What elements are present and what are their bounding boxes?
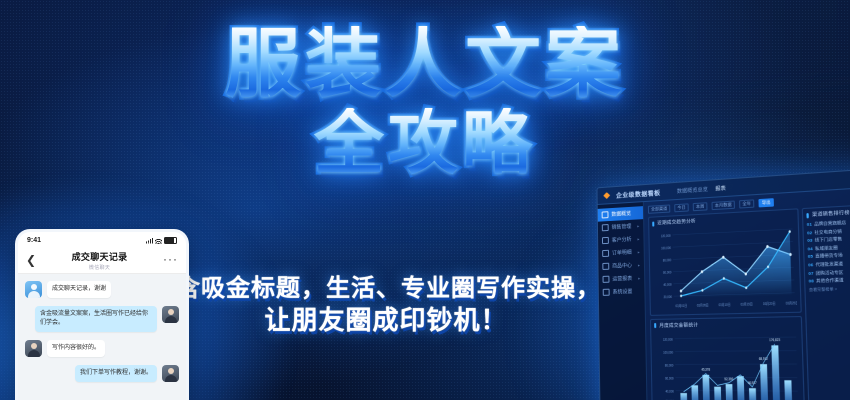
subtitle-line1: 含吸金标题，生活、专业圈写作实操， — [176, 272, 596, 304]
chat-bubble: 写作内容很好的。 — [47, 340, 105, 357]
subtitle-group: 含吸金标题，生活、专业圈写作实操， 让朋友圈成印钞机！ — [176, 272, 596, 339]
line-chart-title: 近期成交趋势分析 — [657, 218, 696, 226]
chat-subtitle: 微信聊天 — [36, 264, 163, 271]
headline-line2-stroke: 全攻略 — [0, 108, 850, 178]
headline-group: 服装人文案 服装人文案 全攻略 全攻略 — [0, 26, 850, 178]
svg-text:100,000: 100,000 — [663, 349, 673, 354]
export-button[interactable]: 导出 — [758, 198, 774, 207]
signal-bars-icon — [146, 238, 153, 244]
subtitle-line2: 让朋友圈成印钞机！ — [176, 304, 596, 339]
sidebar-item-label: 商品中心 — [612, 262, 632, 270]
chevron-right-icon: ▸ — [638, 249, 640, 254]
chart-icon — [602, 224, 609, 231]
filter-chip-week[interactable]: 本周 — [693, 202, 708, 211]
filter-chip-channel[interactable]: 全部渠道 — [648, 204, 670, 213]
dashboard-title: 企业级数据看板 — [616, 187, 661, 199]
chat-message: 含金吸流量文案案，生活圈写作已经给你们学会。 — [25, 306, 179, 332]
ranking-more-link[interactable]: 查看完整榜单 > — [809, 285, 850, 292]
avatar — [25, 281, 42, 298]
dashboard-main: 全部渠道 今日 本周 本月数据 全年 导出 — [644, 187, 850, 400]
sidebar-item-label: 运营报表 — [612, 275, 632, 283]
chat-bubble: 含金吸流量文案案，生活圈写作已经给你们学会。 — [35, 306, 157, 332]
svg-text:03月05日: 03月05日 — [697, 303, 709, 308]
panel-accent-bar — [654, 323, 656, 328]
phone-status-bar: 9:41 — [18, 232, 186, 247]
svg-text:120,000: 120,000 — [661, 233, 671, 238]
box-icon — [602, 263, 609, 270]
headline-line1: 服装人文案 — [0, 26, 850, 102]
svg-text:03月20日: 03月20日 — [763, 301, 776, 306]
sidebar-item-label: 系统设置 — [613, 288, 633, 296]
chat-title: 成交聊天记录 — [36, 250, 163, 263]
sidebar-item-label: 数据概览 — [611, 210, 631, 218]
filter-chip-year[interactable]: 全年 — [739, 199, 754, 208]
charts-container: 近期成交趋势分析 — [648, 204, 850, 400]
svg-text:20,000: 20,000 — [663, 294, 672, 299]
battery-icon — [164, 237, 177, 244]
chat-message: 我们下单写作教程，谢谢。 — [25, 365, 179, 382]
panel-header: 月度成交金额统计 — [654, 320, 798, 329]
light-streak-top — [323, 0, 850, 164]
phone-nav-bar: ❮ 成交聊天记录 微信聊天 ··· — [18, 247, 186, 274]
nav-title-group: 成交聊天记录 微信聊天 — [36, 250, 163, 271]
chat-message: 成交聊天记录，谢谢 — [25, 281, 179, 298]
ranking-panel: 渠道销售排行榜 01 品牌自营旗舰店 02 社交电商分销 — [802, 204, 850, 400]
bar-chart-panel: 月度成交金额统计 — [650, 316, 805, 400]
chat-bubble: 我们下单写作教程，谢谢。 — [75, 365, 157, 382]
bar-chart-title: 月度成交金额统计 — [659, 322, 698, 329]
svg-text:46,917: 46,917 — [748, 380, 757, 385]
svg-text:80,000: 80,000 — [663, 258, 672, 263]
rank-number: 04 — [807, 245, 812, 253]
svg-text:03月10日: 03月10日 — [718, 302, 730, 307]
chevron-left-icon[interactable]: ❮ — [26, 254, 36, 266]
grid-icon — [602, 211, 609, 218]
avatar — [162, 365, 179, 382]
bar-chart-area: 120,000 100,000 80,000 60,000 40,000 20,… — [654, 329, 800, 400]
svg-text:03月01日: 03月01日 — [675, 303, 687, 308]
svg-text:45,378: 45,378 — [701, 367, 710, 372]
svg-text:176,823: 176,823 — [769, 337, 780, 342]
more-horizontal-icon[interactable]: ··· — [163, 256, 178, 263]
dashboard-tab-group: 数据概览总览 报表 — [677, 184, 726, 194]
panel-accent-bar — [652, 221, 654, 226]
sidebar-item-label: 订单明细 — [612, 249, 632, 257]
chat-message: 写作内容很好的。 — [25, 340, 179, 357]
ranking-row[interactable]: 08 其他合作渠道 — [809, 275, 850, 285]
svg-text:03月15日: 03月15日 — [740, 302, 752, 307]
report-icon — [603, 276, 610, 283]
rank-number: 08 — [809, 277, 814, 285]
filter-chip-month[interactable]: 本月数据 — [711, 201, 734, 211]
chevron-right-icon: ▸ — [637, 223, 639, 228]
bar-chart-svg: 120,000 100,000 80,000 60,000 40,000 20,… — [654, 329, 800, 400]
dashboard-sidebar: 数据概览 销售管理 ▸ 客户分析 ▸ 订单明细 — [598, 202, 648, 400]
headline-line1-stroke: 服装人文案 — [0, 26, 850, 102]
gear-icon — [603, 289, 610, 296]
ranking-list: 01 品牌自营旗舰店 02 社交电商分销 03 线下门店零售 — [807, 217, 850, 285]
charts-left-column: 近期成交趋势分析 — [648, 208, 805, 400]
tab-report[interactable]: 报表 — [715, 184, 726, 192]
svg-text:120,000: 120,000 — [663, 337, 673, 342]
avatar — [162, 306, 179, 323]
sidebar-item-settings[interactable]: 系统设置 — [599, 285, 645, 299]
rank-number: 05 — [808, 253, 813, 261]
svg-text:100,000: 100,000 — [661, 245, 671, 250]
svg-text:40,000: 40,000 — [663, 282, 672, 287]
ranking-title: 渠道销售排行榜 — [812, 210, 850, 218]
status-icon-group — [146, 237, 177, 244]
svg-text:68,912: 68,912 — [759, 356, 768, 361]
panel-accent-bar — [806, 212, 808, 217]
svg-text:03月25日: 03月25日 — [786, 301, 798, 306]
dashboard-mockup: 企业级数据看板 数据概览总览 报表 数据概览 销售管理 ▸ — [596, 168, 850, 400]
line-chart-svg: 120,000 100,000 80,000 60,000 40,000 20,… — [652, 221, 797, 311]
rank-number: 07 — [808, 269, 813, 277]
wifi-icon — [155, 238, 162, 244]
avatar — [25, 340, 42, 357]
dashboard-window: 企业级数据看板 数据概览总览 报表 数据概览 销售管理 ▸ — [596, 168, 850, 400]
phone-mockup: 9:41 ❮ 成交聊天记录 微信聊天 ··· 成交聊天记录，谢谢 含金吸流量文案… — [18, 232, 186, 400]
users-icon — [602, 237, 609, 244]
chevron-right-icon: ▸ — [638, 276, 640, 281]
chat-message-list[interactable]: 成交聊天记录，谢谢 含金吸流量文案案，生活圈写作已经给你们学会。 写作内容很好的… — [18, 274, 186, 400]
svg-text:60,000: 60,000 — [665, 375, 674, 380]
svg-text:60,000: 60,000 — [663, 270, 672, 275]
panel-header: 渠道销售排行榜 — [806, 208, 850, 218]
diamond-logo-icon — [603, 192, 610, 199]
filter-chip-today[interactable]: 今日 — [674, 203, 689, 212]
list-icon — [602, 250, 609, 257]
rank-number: 02 — [807, 228, 812, 236]
rank-label: 其他合作渠道 — [816, 276, 844, 285]
headline-line2: 全攻略 — [0, 108, 850, 178]
chevron-right-icon: ▸ — [638, 262, 640, 267]
dashboard-body: 数据概览 销售管理 ▸ 客户分析 ▸ 订单明细 — [598, 187, 850, 400]
tab-overview[interactable]: 数据概览总览 — [677, 185, 708, 194]
line-chart-panel: 近期成交趋势分析 — [648, 208, 802, 315]
chevron-right-icon: ▸ — [637, 236, 639, 241]
promo-banner: 服装人文案 服装人文案 全攻略 全攻略 含吸金标题，生活、专业圈写作实操， 让朋… — [0, 0, 850, 400]
chat-bubble: 成交聊天记录，谢谢 — [47, 281, 111, 298]
svg-text:80,000: 80,000 — [665, 362, 674, 367]
status-time: 9:41 — [27, 237, 41, 244]
sidebar-item-label: 销售管理 — [612, 223, 632, 231]
svg-text:52,390: 52,390 — [724, 376, 733, 381]
sidebar-item-label: 客户分析 — [612, 236, 632, 244]
svg-text:40,000: 40,000 — [665, 388, 674, 393]
rank-number: 03 — [807, 236, 812, 244]
rank-number: 06 — [808, 261, 813, 269]
line-chart-area: 120,000 100,000 80,000 60,000 40,000 20,… — [652, 221, 797, 311]
